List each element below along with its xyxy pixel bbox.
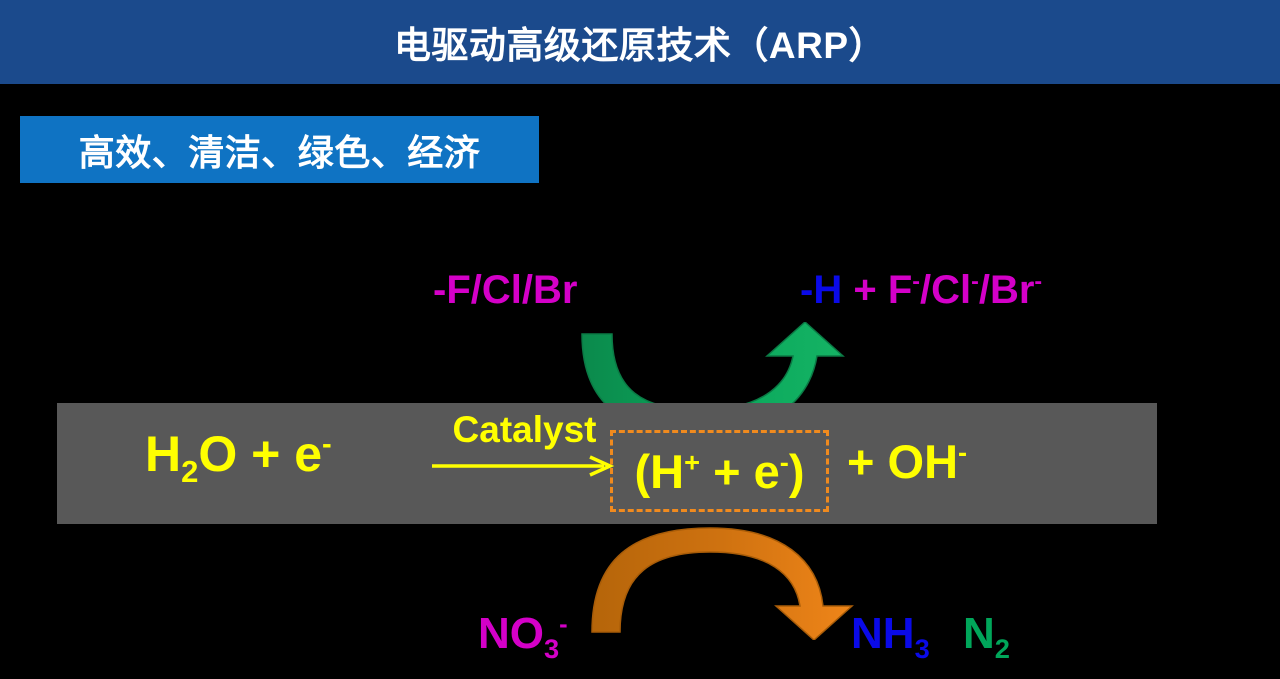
nitrate-charge-sup: - [559,610,568,638]
subtitle-banner: 高效、清洁、绿色、经济 [20,116,539,183]
equation-panel: H2O + e- Catalyst (H+ + e-) + OH- [57,403,1157,524]
hydroxide-charge-sup: - [958,436,967,467]
label-fluoride-text: F [888,268,912,312]
label-chloride-text: /Cl [920,268,971,312]
label-bromide-text: /Br [979,268,1035,312]
equation-products: + OH- [847,438,967,485]
bromide-charge-sup: - [1034,268,1042,294]
dinitrogen-base: N [963,609,995,658]
intermediate-mid: + e [700,445,780,498]
label-ammonia: NH3 [851,612,930,656]
intermediate-highlight-box: (H+ + e-) [610,430,829,512]
hydroxide-text: + OH [847,435,958,488]
proton-charge-sup: + [684,446,700,477]
label-dehydro-text: -H [800,268,842,312]
dinitrogen-sub: 2 [995,633,1010,664]
intermediate-open: (H [635,445,685,498]
nitrate-sub: 3 [544,633,559,664]
intermediate-close: ) [789,445,805,498]
label-nitrate: NO3- [478,612,568,656]
chloride-charge-sup: - [971,268,979,294]
equation-reactants: H2O + e- [145,427,332,482]
label-dehalogenation: -F/Cl/Br [433,270,577,310]
label-dinitrogen: N2 [963,612,1010,656]
title-bar: 电驱动高级还原技术（ARP） [0,0,1280,84]
subtitle-text: 高效、清洁、绿色、经济 [79,124,481,176]
nitrate-base: NO [478,609,544,658]
intermediate-electron-sup: - [780,446,789,477]
orange-arrow-shape [592,528,852,640]
page-title: 电驱动高级还原技术（ARP） [0,0,1280,84]
water-h: H [145,426,181,482]
intermediate-species: (H+ + e-) [635,448,805,495]
nitrate-reduction-arrow [570,522,870,640]
fluoride-charge-sup: - [912,268,920,294]
label-plus-sign: + [842,268,888,312]
electron-charge-sup: - [322,428,332,460]
label-dehydro-halide: -H + F-/Cl-/Br- [800,270,1042,310]
ammonia-base: NH [851,609,915,658]
ammonia-sub: 3 [915,633,930,664]
water-h-sub: 2 [181,454,198,489]
water-rest: O + e [198,426,322,482]
label-dehalogenation-text: -F/Cl/Br [433,268,577,312]
